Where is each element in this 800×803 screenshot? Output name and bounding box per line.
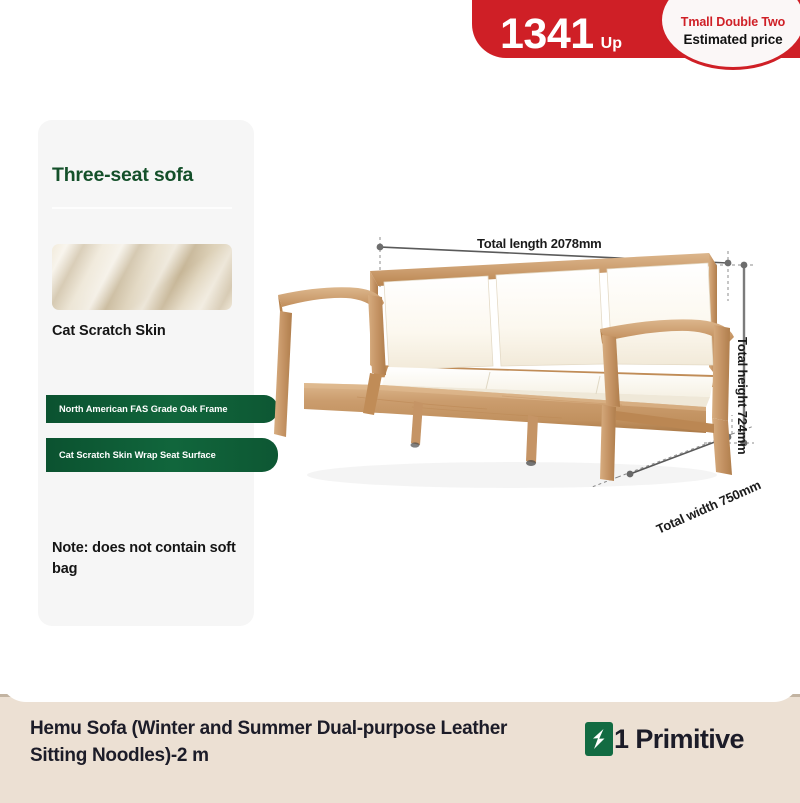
dimension-length-label: Total length 2078mm xyxy=(477,236,602,251)
back-cushions xyxy=(384,263,713,370)
sofa-drawing xyxy=(262,225,782,525)
armrest-left xyxy=(278,287,386,375)
sofa-illustration xyxy=(262,225,782,525)
brand-logo-icon xyxy=(585,722,613,756)
dimension-height-label: Total height 724mm xyxy=(735,337,750,455)
brand-lockup: 1 Primitive xyxy=(585,722,744,756)
brand-name-label: 1 Primitive xyxy=(614,726,744,753)
back-cushion-right xyxy=(607,263,713,365)
promo-price-value: 1341 xyxy=(500,13,594,56)
fabric-swatch-image xyxy=(52,244,232,310)
feature-badge-seat-surface: Cat Scratch Skin Wrap Seat Surface xyxy=(46,438,278,472)
promo-campaign-label: Tmall Double Two xyxy=(681,14,785,31)
leg-back-right xyxy=(712,418,732,475)
panel-note-text: Note: does not contain soft bag xyxy=(52,538,238,579)
promo-price-suffix-label: Up xyxy=(601,36,622,56)
back-cushion-center xyxy=(496,269,604,366)
product-info-panel: Three-seat sofa Cat Scratch Skin North A… xyxy=(38,120,254,626)
promo-price-group: 1341 Up xyxy=(500,6,680,56)
panel-divider xyxy=(52,207,232,209)
leg-center xyxy=(526,415,538,463)
feature-badge-oak-frame: North American FAS Grade Oak Frame xyxy=(46,395,278,423)
product-title: Hemu Sofa (Winter and Summer Dual-purpos… xyxy=(30,716,550,770)
panel-title: Three-seat sofa xyxy=(52,164,193,187)
fabric-swatch-caption: Cat Scratch Skin xyxy=(52,323,166,339)
leg-front-right xyxy=(600,405,616,481)
promo-price-note-label: Estimated price xyxy=(683,31,782,49)
leg-front-left xyxy=(274,311,292,437)
back-cushion-left xyxy=(384,276,493,370)
floor-shadow xyxy=(307,462,717,488)
